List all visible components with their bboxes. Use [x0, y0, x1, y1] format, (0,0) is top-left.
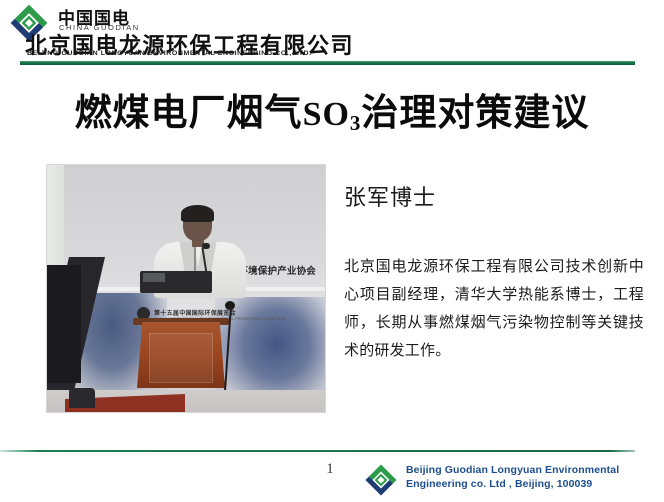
photo-speaker-hair [181, 205, 214, 222]
footer-guodian-diamond-logo-icon [362, 463, 400, 497]
speaker-name: 张军博士 [344, 180, 436, 212]
title-formula: SO3 [303, 96, 362, 133]
photo-dark-panel-left [47, 265, 81, 383]
speaker-biography: 北京国电龙源环保工程有限公司技术创新中心项目副经理，清华大学热能系博士，工程师，… [344, 253, 644, 365]
photo-podium-panel [149, 333, 213, 383]
company-name-en: BEIJING GUODIAN LONGYUAN ENVIRONMENTAL E… [27, 50, 312, 57]
presentation-slide: 中国国电 CHINA GUODIAN 北京国电龙源环保工程有限公司 BEIJIN… [0, 0, 664, 502]
page-number: 1 [320, 461, 340, 478]
footer-line-1: Beijing Guodian Longyuan Environmental [406, 464, 619, 476]
header-divider [20, 61, 635, 65]
page-title: 燃煤电厂烟气SO3治理对策建议 [0, 82, 664, 136]
photo-chair-back [69, 388, 95, 408]
formula-main: SO [303, 96, 350, 133]
formula-subscript: 3 [350, 111, 362, 135]
title-suffix: 治理对策建议 [361, 91, 589, 134]
title-prefix: 燃煤电厂烟气 [75, 91, 303, 134]
photo-laptop-screen [143, 273, 165, 282]
footer-company-address: Beijing Guodian Longyuan Environmental E… [406, 463, 656, 491]
footer-line-2: Engineering co. Ltd , Beijing, 100039 [406, 477, 656, 491]
photo-microphone-head [202, 243, 210, 249]
speaker-photo: 中国环境保护产业协会 第十五届中国国际环保展览会 CHINA INTERNATI… [47, 165, 325, 412]
slide-header: 中国国电 CHINA GUODIAN 北京国电龙源环保工程有限公司 BEIJIN… [0, 0, 664, 62]
footer-divider [0, 450, 635, 452]
